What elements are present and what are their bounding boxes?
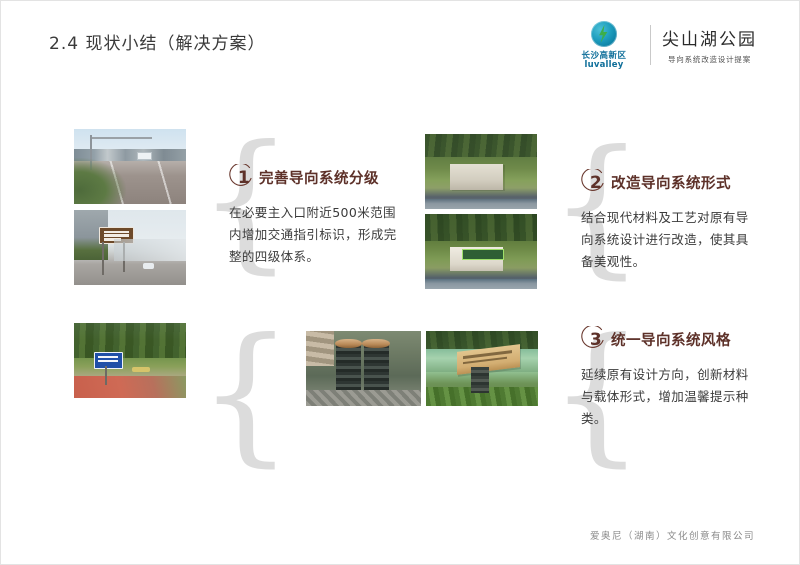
brand-project-title: 尖山湖公园 [662, 25, 757, 50]
solution-block-2: 2 改造导向系统形式 结合现代材料及工艺对原有导向系统设计进行改造，使其具备美观… [581, 169, 751, 273]
stone-slab [450, 164, 504, 190]
footer-company: 爱奥尼（湖南）文化创意有限公司 [590, 528, 755, 542]
solution-2-body: 结合现代材料及工艺对原有导向系统设计进行改造，使其具备美观性。 [581, 207, 751, 273]
photo-park-sign-green-plate [425, 214, 537, 289]
wooden-deck [306, 331, 334, 366]
yellow-object [132, 367, 150, 372]
roadway [425, 199, 537, 210]
number-badge-1: 1 [229, 164, 256, 191]
solution-3-heading-row: 3 统一导向系统风格 [581, 326, 751, 353]
road-markings [74, 161, 186, 205]
stone-pillar-right [364, 345, 389, 392]
pillar-cap-right [362, 339, 390, 348]
solution-2-heading-row: 2 改造导向系统形式 [581, 169, 751, 196]
green-sign-plate [462, 249, 504, 259]
photo-wide-avenue [74, 129, 186, 204]
photo-park-stone-monument [425, 134, 537, 209]
overhead-sign-panel [137, 152, 152, 161]
solution-1-body: 在必要主入口附近500米范围内增加交通指引标识，形成完整的四级体系。 [229, 202, 399, 268]
solution-3-body: 延续原有设计方向，创新材料与载体形式，增加温馨提示种类。 [581, 364, 751, 430]
number-badge-3-label: 3 [581, 326, 608, 353]
blue-notice-sign [94, 352, 123, 369]
solution-1-heading-row: 1 完善导向系统分级 [229, 164, 399, 191]
slide-canvas: 2.4 现状小结（解决方案） 长沙高新区 luvalley 尖山湖公园 导向系统… [0, 0, 800, 565]
red-bike-path [74, 376, 186, 399]
photo-brown-direction-sign [74, 210, 186, 285]
brand-org-cn: 长沙高新区 [581, 49, 626, 61]
gravel-ground [306, 390, 421, 407]
photo-stone-pillars [306, 331, 421, 406]
luvalley-swirl-logo-icon [591, 21, 617, 47]
car [143, 263, 153, 270]
solution-block-3: 3 统一导向系统风格 延续原有设计方向，创新材料与载体形式，增加温馨提示种类。 [581, 326, 751, 430]
number-badge-2-label: 2 [581, 169, 608, 196]
sign-pole-right [123, 242, 125, 272]
number-badge-3: 3 [581, 326, 608, 353]
photo-blue-sign-red-path [74, 323, 186, 398]
stone-base [471, 367, 489, 393]
gantry-pole [90, 135, 92, 170]
solution-2-heading: 改造导向系统形式 [611, 172, 731, 193]
page-title: 2.4 现状小结（解决方案） [49, 29, 265, 54]
sign-pole [105, 366, 107, 386]
solution-block-1: 1 完善导向系统分级 在必要主入口附近500米范围内增加交通指引标识，形成完整的… [229, 164, 399, 268]
sign-pole-left [102, 242, 104, 275]
brand-project: 尖山湖公园 导向系统改造设计提案 [662, 25, 757, 65]
photo-wooden-lakeside-board [426, 331, 538, 406]
brand-org-en: luvalley [585, 61, 624, 70]
brace-3: { [198, 319, 293, 469]
brand-divider [650, 25, 651, 65]
brand-project-subtitle: 导向系统改造设计提案 [668, 54, 751, 65]
brand-organization: 长沙高新区 luvalley [569, 21, 639, 70]
stone-pillar-left [336, 345, 361, 392]
brand-lockup: 长沙高新区 luvalley 尖山湖公园 导向系统改造设计提案 [569, 19, 757, 71]
roadway [425, 279, 537, 289]
solution-1-heading: 完善导向系统分级 [259, 167, 379, 188]
number-badge-2: 2 [581, 169, 608, 196]
gantry-arm [90, 137, 153, 139]
solution-3-heading: 统一导向系统风格 [611, 329, 731, 350]
number-badge-1-label: 1 [229, 164, 256, 191]
